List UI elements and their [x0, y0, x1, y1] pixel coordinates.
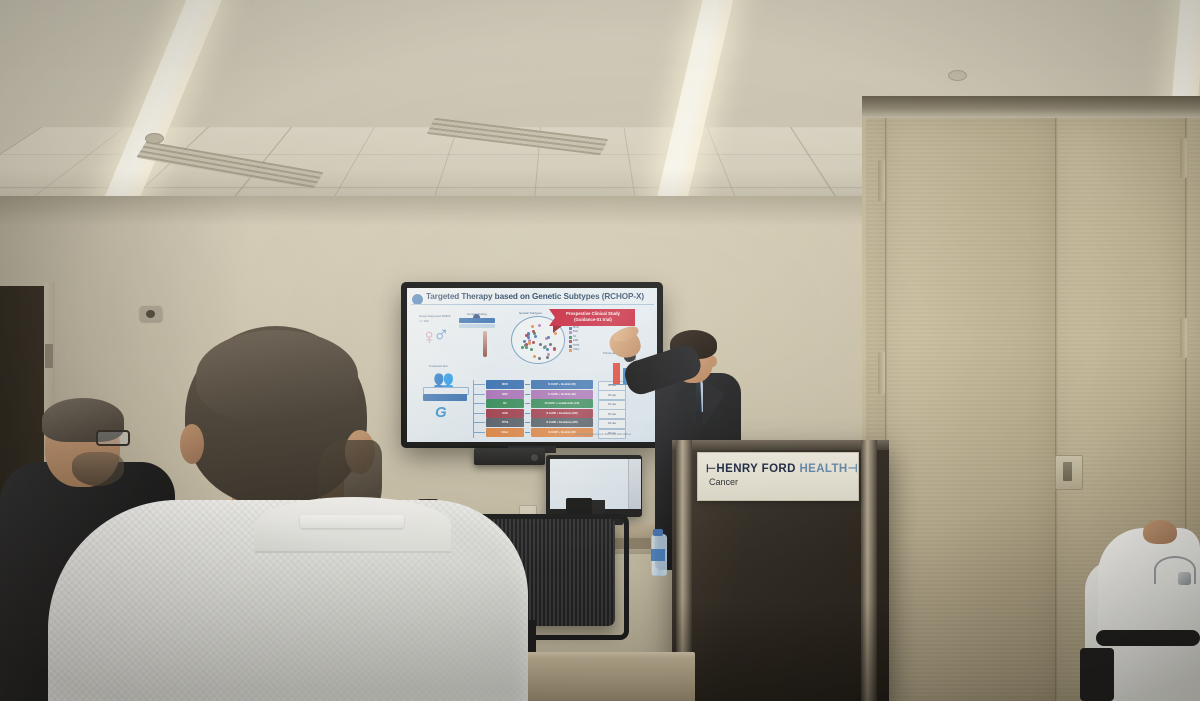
brand-mark-left-icon: ⊢	[706, 463, 716, 475]
subtype-chip: Other	[486, 428, 524, 437]
legend-label: N1	[573, 335, 576, 338]
flow-arrow-icon	[525, 413, 530, 414]
sequencing-bar-secondary	[459, 324, 495, 328]
bottle-cap	[653, 529, 663, 536]
cluster-point	[527, 336, 530, 339]
cluster-point	[546, 356, 549, 359]
cluster-point	[528, 341, 531, 344]
slide-cluster-label: Genetic Subtypes	[519, 311, 542, 315]
cluster-point	[547, 353, 550, 356]
audience-left-glasses-icon	[96, 430, 130, 446]
camera-lens-icon	[530, 453, 539, 462]
audience-right-chair[interactable]	[1096, 630, 1200, 646]
cluster-point	[534, 335, 537, 338]
legend-swatch	[569, 327, 572, 330]
flow-arrow-icon	[525, 422, 530, 423]
stethoscope-chestpiece-icon	[1178, 572, 1191, 585]
tree-branch	[473, 394, 485, 395]
cluster-point	[546, 348, 549, 351]
outcome-chip: CR rate	[598, 390, 626, 400]
legend-label: MCD	[573, 326, 579, 329]
cluster-point	[532, 341, 535, 344]
smoke-detector-icon	[145, 133, 164, 144]
cluster-point	[543, 346, 546, 349]
outcome-chip: CR rate	[598, 409, 626, 419]
outcome-chip: CR rate	[598, 400, 626, 410]
bar-rchopx	[613, 363, 620, 384]
tree-branch	[473, 422, 485, 423]
tree-branch	[473, 384, 485, 385]
cluster-point	[538, 324, 541, 327]
smoke-detector-icon	[948, 70, 967, 81]
slide-cohort-label: Newly diagnosed DLBCL	[419, 314, 451, 318]
flow-arrow-icon	[525, 384, 530, 385]
patient-male-icon: ♂	[433, 324, 450, 346]
cluster-point	[553, 348, 556, 351]
legend-swatch	[569, 345, 572, 348]
monitor-sidebar-panel	[628, 459, 641, 509]
treatment-chip: R-CHOP + Ibrutinib (IR)	[531, 380, 593, 389]
treatment-chip: R-CHOP + Decitabine (DR)	[531, 418, 593, 427]
cluster-point	[531, 325, 534, 328]
tree-branch	[473, 403, 485, 404]
legend-swatch	[569, 340, 572, 343]
study-banner-line1: Prospective Clinical Study	[553, 311, 633, 316]
subtype-chip: N1	[486, 399, 524, 408]
bottle-label	[651, 549, 665, 561]
slide-arm-label: Treatment Arm	[429, 364, 448, 368]
study-banner-line2: (Guidance-01 trial)	[553, 317, 633, 322]
treatment-chip: R-CHOP + Ibrutinib (IR)	[531, 390, 593, 399]
slide-title: Targeted Therapy based on Genetic Subtyp…	[426, 292, 654, 301]
cluster-point	[549, 343, 552, 346]
slide-title-rule	[411, 304, 654, 305]
flow-arrow-icon	[525, 403, 530, 404]
flow-arrow-icon	[525, 432, 530, 433]
conference-room-scene: Targeted Therapy based on Genetic Subtyp…	[0, 0, 1200, 701]
cluster-point	[525, 343, 528, 346]
audience-right-hand	[1143, 520, 1177, 544]
subtype-chip: EZB	[486, 409, 524, 418]
guidance-box: Guidance-01	[423, 394, 467, 401]
treatment-chip: R-CHOP + Lenalidomide (LR)	[531, 399, 593, 408]
legend-label: Other	[573, 348, 580, 351]
subtype-chip: BN2	[486, 390, 524, 399]
collar-fold	[300, 515, 404, 528]
cluster-point	[539, 343, 542, 346]
audience-front-ear	[180, 424, 204, 464]
brand-wordmark: ⊢HENRY FORD HEALTH⊣	[706, 461, 852, 475]
tree-branch	[473, 432, 485, 433]
legend-swatch	[569, 349, 572, 352]
subtype-chip: MCD	[486, 380, 524, 389]
brand-subtitle: Cancer	[709, 477, 738, 487]
brand-primary: HENRY FORD	[716, 463, 795, 475]
cluster-point	[521, 346, 524, 349]
guidance-logo-icon: G	[435, 404, 447, 421]
slide-cohort-count: n = 152	[419, 319, 429, 323]
legend-label: TP53	[573, 344, 579, 347]
legend-swatch	[569, 336, 572, 339]
brand-secondary: HEALTH	[799, 463, 847, 475]
slide-citation: Zhao W. et al. Cancer Cell. 2023;41(4):1…	[575, 433, 631, 436]
tree-branch	[473, 413, 485, 414]
treatment-chip: R-CHOP + Decitabine (DR)	[531, 409, 593, 418]
legend-label: EZB	[573, 339, 578, 342]
outcome-chip: CR rate	[598, 381, 626, 391]
branch-tree	[473, 380, 474, 438]
presentation-slide: Targeted Therapy based on Genetic Subtyp…	[407, 288, 657, 442]
flow-arrow-icon	[525, 394, 530, 395]
legend-swatch	[569, 331, 572, 334]
lectern-top	[672, 440, 889, 450]
brand-mark-right-icon: ⊣	[848, 463, 858, 475]
audience-front-hair	[196, 330, 358, 422]
legend-label: BN2	[573, 330, 578, 333]
outcome-chip: CR rate	[598, 419, 626, 429]
lectern-shadow	[672, 600, 889, 701]
subtype-chip: TP53	[486, 418, 524, 427]
audience-left-beard	[72, 452, 124, 486]
sequencing-bar	[459, 318, 495, 323]
audience-right-chair-back[interactable]	[1080, 648, 1114, 701]
presenter-ear	[709, 356, 717, 367]
sample-tube-icon	[483, 331, 487, 357]
